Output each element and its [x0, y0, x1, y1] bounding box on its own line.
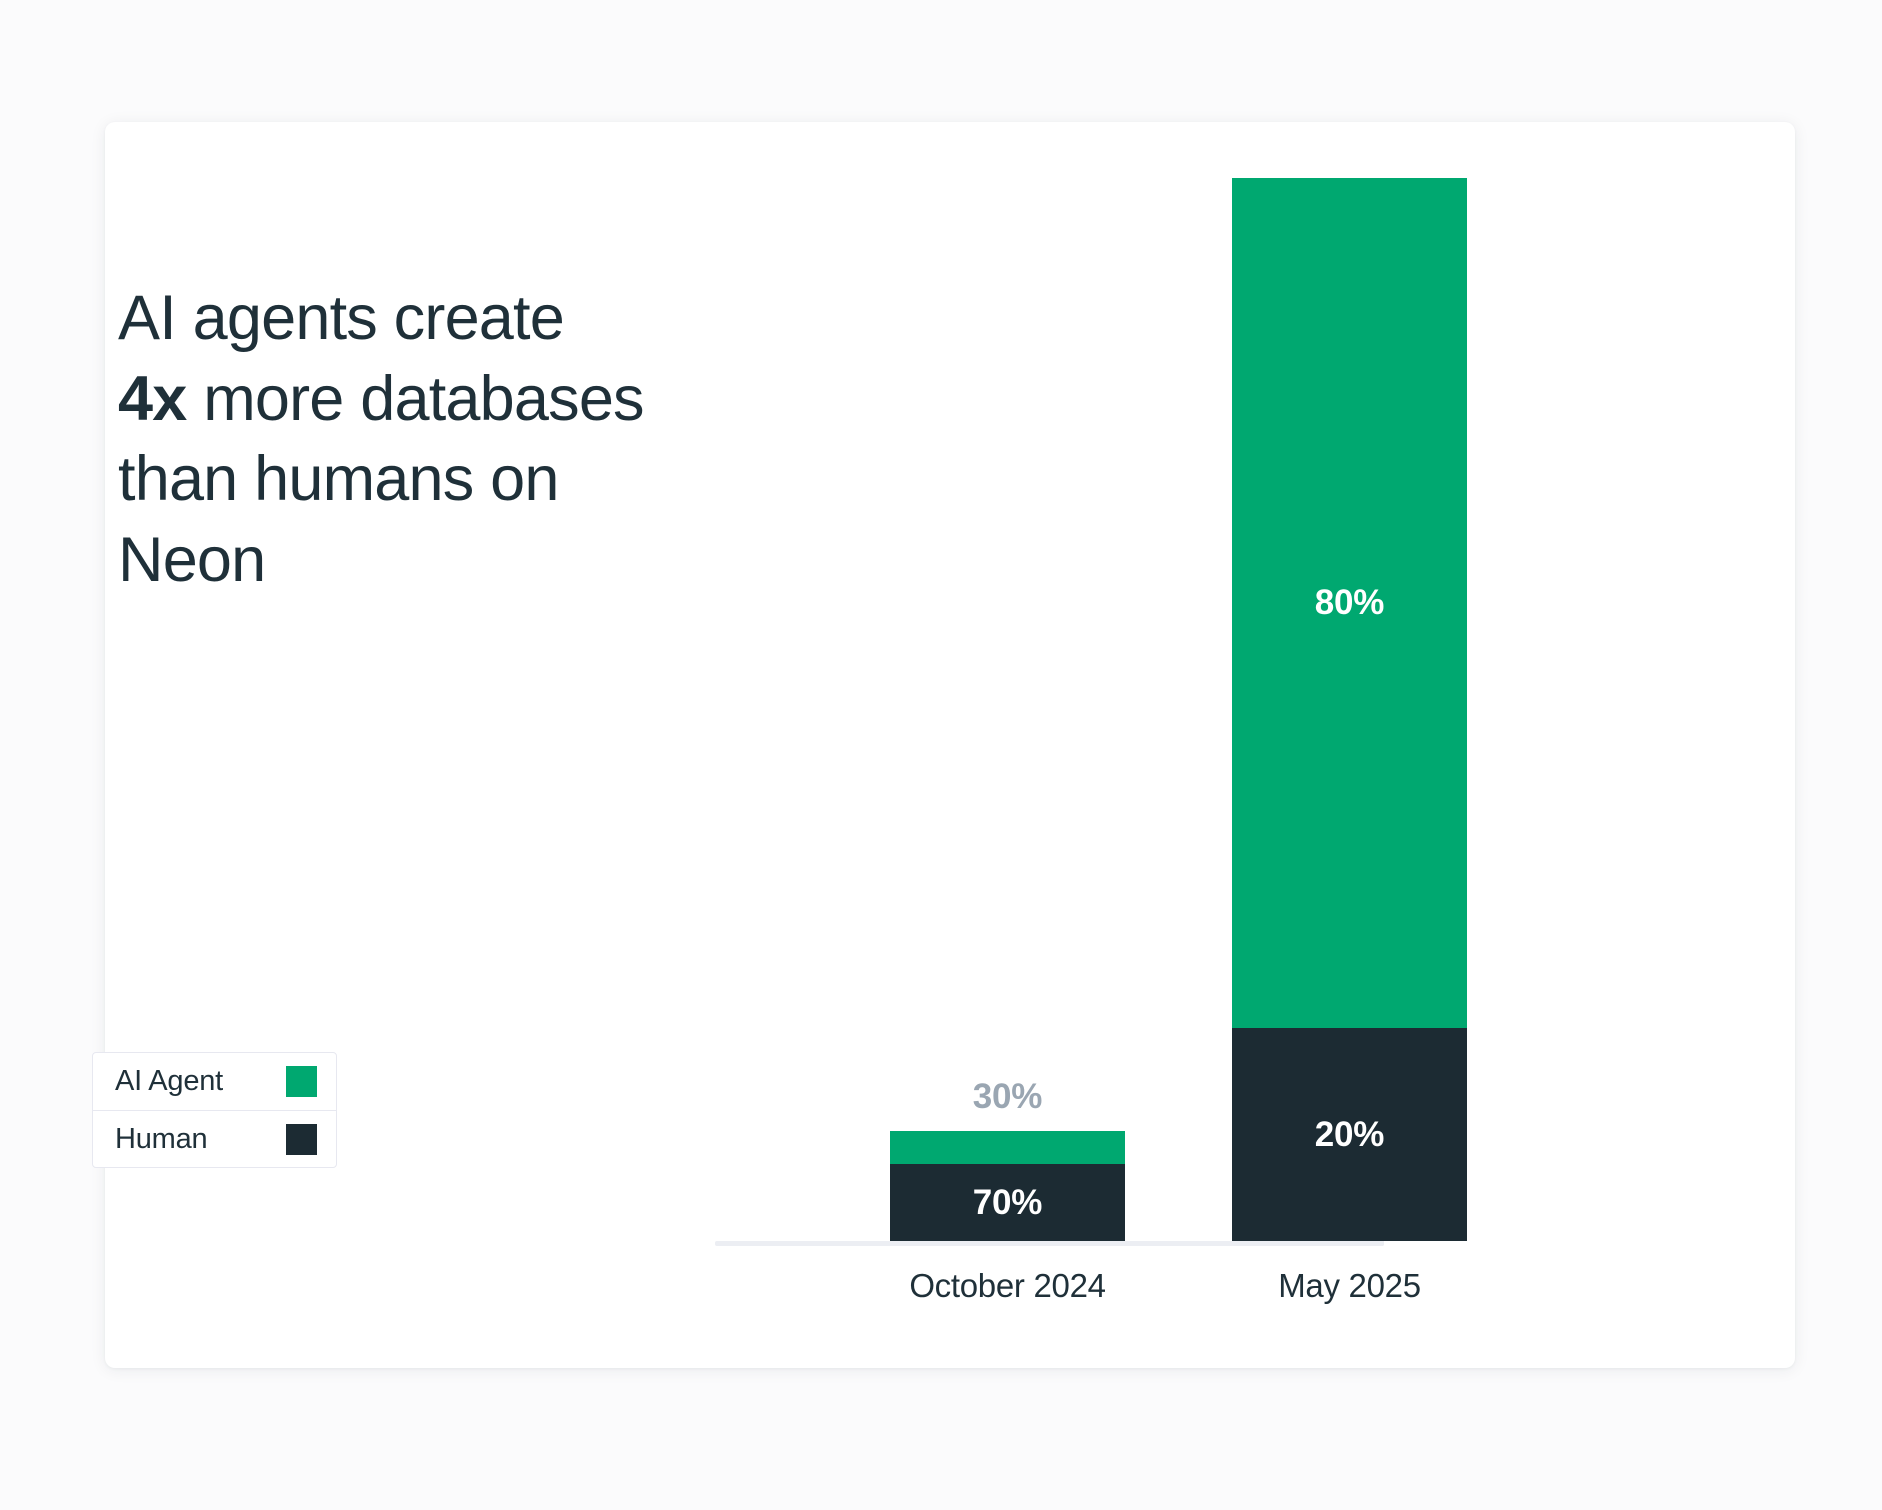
headline-line-2: more databases [186, 364, 643, 434]
legend-swatch-ai-agent [286, 1066, 317, 1097]
legend-item-ai-agent[interactable]: AI Agent [93, 1053, 336, 1110]
chart-legend: AI Agent Human [92, 1052, 337, 1168]
legend-label-ai-agent: AI Agent [115, 1065, 223, 1098]
headline-line-3: than humans on [118, 444, 559, 514]
legend-swatch-human [286, 1124, 317, 1155]
headline-line-4: Neon [118, 525, 265, 595]
page-title: AI agents create 4x more databases than … [118, 278, 888, 601]
legend-item-human[interactable]: Human [93, 1110, 336, 1167]
headline-emphasis: 4x [118, 364, 186, 434]
legend-label-human: Human [115, 1123, 208, 1156]
headline-line-1: AI agents create [118, 283, 564, 353]
